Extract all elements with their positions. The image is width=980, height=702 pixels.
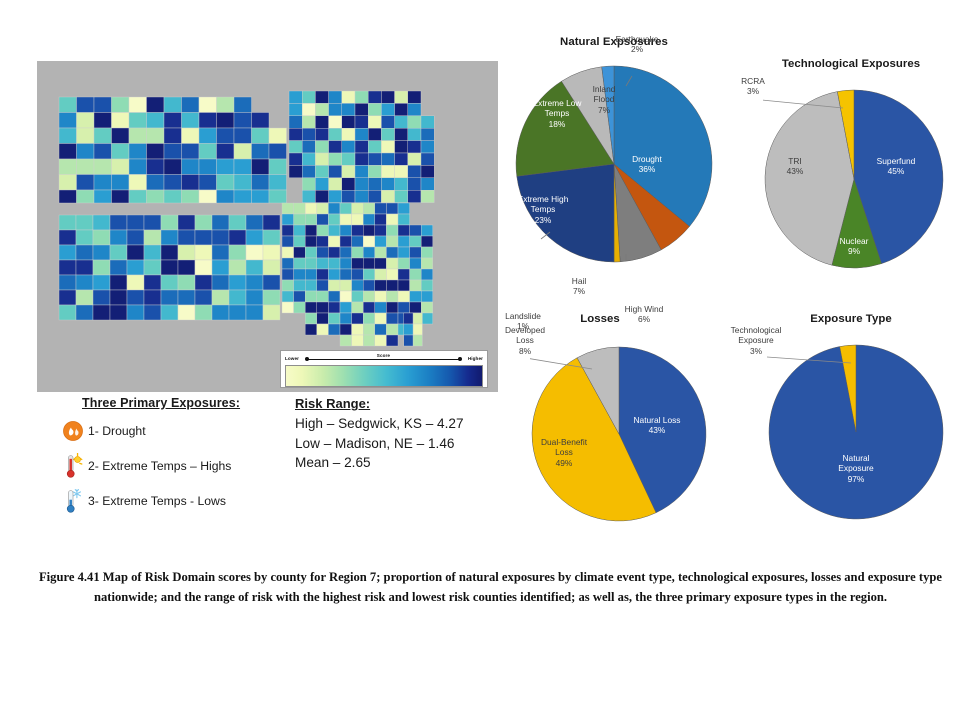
map-county: [340, 258, 352, 269]
figure-caption: Figure 4.41 Map of Risk Domain scores by…: [38, 568, 943, 607]
map-county: [340, 324, 352, 335]
map-county: [94, 159, 112, 175]
map-county: [212, 305, 229, 320]
map-county: [302, 128, 315, 140]
map-county: [352, 280, 364, 291]
map-county: [234, 159, 252, 175]
map-county: [355, 128, 368, 140]
map-county: [342, 141, 355, 153]
map-county: [410, 269, 422, 280]
map-county: [195, 215, 212, 230]
map-county: [212, 260, 229, 275]
map-county: [263, 275, 280, 290]
map-county: [59, 159, 77, 175]
map-county: [305, 236, 317, 247]
map-county: [363, 225, 375, 236]
map-county: [127, 215, 144, 230]
map-county: [375, 225, 387, 236]
map-county: [110, 275, 127, 290]
map-county: [129, 190, 147, 203]
map-county: [263, 215, 280, 230]
map-county: [161, 245, 178, 260]
map-county: [263, 290, 280, 305]
map-county: [408, 165, 421, 177]
map-county: [127, 245, 144, 260]
slice-label-dual-benefit-loss: Dual-BenefitLoss49%: [526, 437, 602, 468]
map-county: [252, 113, 270, 129]
map-county: [161, 290, 178, 305]
map-county: [329, 141, 342, 153]
map-county: [395, 91, 408, 103]
map-county: [340, 313, 352, 324]
map-county: [317, 280, 329, 291]
map-county: [182, 97, 200, 113]
map-county: [317, 247, 329, 258]
map-county: [395, 153, 408, 165]
map-county: [195, 275, 212, 290]
map-county: [408, 178, 421, 190]
map-county: [342, 116, 355, 128]
map-county: [410, 258, 422, 269]
map-county: [328, 225, 340, 236]
map-county: [328, 302, 340, 313]
map-county: [294, 225, 306, 236]
map-county: [352, 335, 364, 346]
map-county: [340, 280, 352, 291]
map-county: [129, 175, 147, 191]
map-county: [375, 280, 387, 291]
map-county: [398, 280, 410, 291]
map-county: [94, 175, 112, 191]
map-county: [195, 245, 212, 260]
map-county: [112, 144, 130, 160]
map-county: [421, 128, 434, 140]
scale-gradient-bar: [285, 365, 483, 387]
map-county: [410, 236, 422, 247]
map-county: [129, 113, 147, 129]
map-county: [381, 116, 394, 128]
map-county: [421, 153, 434, 165]
map-county: [144, 215, 161, 230]
map-county: [352, 291, 364, 302]
map-county: [77, 128, 95, 144]
map-county: [294, 203, 306, 214]
map-county: [59, 190, 77, 203]
map-county: [59, 275, 76, 290]
map-county: [421, 258, 433, 269]
map-county: [329, 153, 342, 165]
map-county: [302, 165, 315, 177]
map-county: [282, 269, 294, 280]
map-county: [127, 275, 144, 290]
map-county: [234, 175, 252, 191]
map-county: [246, 275, 263, 290]
legend-heading: Three Primary Exposures:: [82, 396, 292, 410]
slice-label-nuclear: Nuclear9%: [827, 236, 881, 257]
map-county: [363, 236, 375, 247]
map-county: [375, 258, 387, 269]
map-county: [282, 247, 294, 258]
map-county: [413, 335, 422, 346]
map-county: [305, 302, 317, 313]
map-county: [217, 159, 235, 175]
map-county: [404, 313, 413, 324]
map-county: [76, 290, 93, 305]
map-county: [386, 280, 398, 291]
map-county: [294, 291, 306, 302]
map-county: [381, 178, 394, 190]
map-county: [144, 290, 161, 305]
map-county: [217, 97, 235, 113]
map-county: [386, 225, 398, 236]
map-county: [110, 215, 127, 230]
map-county: [386, 203, 398, 214]
map-county: [381, 190, 394, 202]
map-county: [77, 113, 95, 129]
map-county: [178, 260, 195, 275]
map-county: [355, 116, 368, 128]
map-county: [164, 128, 182, 144]
map-county: [386, 214, 398, 225]
map-county: [112, 97, 130, 113]
map-county: [395, 190, 408, 202]
map-county: [355, 190, 368, 202]
map-county: [246, 305, 263, 320]
map-county: [302, 190, 315, 202]
map-county: [317, 203, 329, 214]
map-county: [352, 203, 364, 214]
map-county: [182, 128, 200, 144]
map-county: [398, 291, 410, 302]
map-county: [182, 159, 200, 175]
map-county: [340, 225, 352, 236]
map-county: [302, 91, 315, 103]
map-county: [328, 203, 340, 214]
map-county: [410, 291, 422, 302]
map-county: [421, 291, 433, 302]
map-county: [93, 245, 110, 260]
map-county: [212, 245, 229, 260]
map-county: [164, 144, 182, 160]
map-county: [398, 214, 410, 225]
map-county: [317, 236, 329, 247]
slice-label-technological-exposure: TechnologicalExposure3%: [717, 325, 795, 356]
map-county: [317, 225, 329, 236]
map-county: [315, 141, 328, 153]
map-county: [408, 116, 421, 128]
map-county: [94, 128, 112, 144]
map-county: [289, 116, 302, 128]
map-county: [315, 103, 328, 115]
map-county: [386, 269, 398, 280]
map-county: [234, 190, 252, 203]
map-county: [77, 97, 95, 113]
map-county: [363, 335, 375, 346]
map-county: [381, 165, 394, 177]
map-county: [328, 236, 340, 247]
map-county: [317, 313, 329, 324]
map-county: [212, 275, 229, 290]
map-county: [282, 214, 294, 225]
map-county: [315, 128, 328, 140]
map-county: [282, 302, 294, 313]
map-county: [76, 260, 93, 275]
map-county: [269, 175, 287, 191]
slice-label-superfund: Superfund45%: [859, 156, 933, 177]
map-county: [182, 190, 200, 203]
map-county: [112, 113, 130, 129]
legend-label-drought: 1- Drought: [88, 424, 146, 438]
map-county: [315, 91, 328, 103]
map-county: [93, 305, 110, 320]
map-county: [127, 260, 144, 275]
map-county: [342, 153, 355, 165]
map-county: [352, 324, 364, 335]
map-county: [229, 305, 246, 320]
map-county: [112, 190, 130, 203]
map-county: [340, 335, 352, 346]
map-county: [77, 144, 95, 160]
map-scale-legend: Lower Score Higher: [280, 350, 488, 388]
map-county: [147, 128, 165, 144]
map-county: [289, 103, 302, 115]
map-county: [229, 245, 246, 260]
map-county: [421, 313, 433, 324]
map-county: [368, 103, 381, 115]
map-county: [263, 305, 280, 320]
map-county: [368, 116, 381, 128]
map-county: [386, 324, 398, 335]
map-county: [302, 178, 315, 190]
map-county: [368, 178, 381, 190]
map-county: [363, 247, 375, 258]
map-county: [252, 128, 270, 144]
map-county: [127, 290, 144, 305]
map-county: [77, 159, 95, 175]
map-county: [217, 175, 235, 191]
map-county: [340, 291, 352, 302]
technological-exposures-title: Technological Exposures: [735, 58, 967, 70]
map-county: [178, 215, 195, 230]
map-county: [421, 225, 433, 236]
map-county: [76, 245, 93, 260]
map-county: [182, 144, 200, 160]
map-county: [110, 290, 127, 305]
map-county: [161, 275, 178, 290]
map-county: [178, 230, 195, 245]
map-county: [421, 302, 433, 313]
map-county: [199, 97, 217, 113]
map-county: [182, 113, 200, 129]
map-county: [178, 275, 195, 290]
map-county: [328, 324, 340, 335]
exposure-type-title: Exposure Type: [735, 313, 967, 325]
map-county: [305, 225, 317, 236]
map-county: [144, 275, 161, 290]
map-county: [329, 103, 342, 115]
map-county: [342, 178, 355, 190]
map-county: [352, 236, 364, 247]
map-county: [76, 275, 93, 290]
exposure-type-pie: [767, 343, 945, 521]
map-county: [282, 236, 294, 247]
map-county: [246, 215, 263, 230]
losses-title: Losses: [484, 313, 716, 325]
map-county: [129, 144, 147, 160]
exposure-type-chart: Exposure Type NaturalExposure97% Technol…: [735, 313, 967, 553]
map-county: [161, 230, 178, 245]
map-county: [164, 175, 182, 191]
map-county: [413, 324, 422, 335]
technological-exposures-chart: Technological Exposures Superfund45% Nuc…: [735, 58, 967, 323]
map-county: [340, 214, 352, 225]
map-county: [363, 280, 375, 291]
drought-icon: [62, 417, 84, 445]
map-county: [410, 247, 422, 258]
map-county: [342, 128, 355, 140]
slice-label-drought: Drought36%: [612, 154, 682, 175]
map-county: [386, 302, 398, 313]
map-county: [127, 230, 144, 245]
map-county: [212, 290, 229, 305]
map-county: [408, 141, 421, 153]
map-county: [329, 178, 342, 190]
map-county: [328, 247, 340, 258]
map-county: [229, 260, 246, 275]
map-county: [144, 245, 161, 260]
map-county: [129, 97, 147, 113]
map-county: [363, 324, 375, 335]
scale-title: Score: [368, 353, 398, 358]
map-county: [112, 175, 130, 191]
map-county: [164, 190, 182, 203]
scale-arrow: Score: [302, 354, 465, 363]
map-county: [408, 153, 421, 165]
map-county: [144, 230, 161, 245]
map-county: [395, 128, 408, 140]
map-county: [263, 260, 280, 275]
map-county: [355, 153, 368, 165]
map-county: [381, 153, 394, 165]
map-county: [212, 215, 229, 230]
risk-domain-map: Lower Score Higher: [37, 61, 498, 392]
county-choropleth-svg: [37, 61, 498, 392]
map-county: [144, 305, 161, 320]
map-county: [127, 305, 144, 320]
map-county: [59, 305, 76, 320]
map-county: [217, 144, 235, 160]
map-county: [234, 144, 252, 160]
slice-label-developed-loss: DevelopedLoss8%: [490, 325, 560, 356]
map-county: [294, 280, 306, 291]
map-county: [352, 302, 364, 313]
map-county: [294, 269, 306, 280]
risk-range-high: High – Sedgwick, KS – 4.27: [295, 414, 515, 434]
map-county: [355, 103, 368, 115]
map-county: [199, 190, 217, 203]
map-county: [178, 290, 195, 305]
map-county: [246, 290, 263, 305]
map-county: [178, 245, 195, 260]
map-county: [217, 128, 235, 144]
map-county: [375, 291, 387, 302]
map-county: [161, 260, 178, 275]
map-county: [195, 290, 212, 305]
map-county: [252, 159, 270, 175]
slice-label-extreme-high-temps: Extreme HighTemps23%: [506, 194, 580, 225]
map-county: [340, 269, 352, 280]
map-county: [352, 225, 364, 236]
map-county: [294, 247, 306, 258]
map-county: [263, 245, 280, 260]
map-county: [94, 144, 112, 160]
map-county: [302, 103, 315, 115]
map-county: [317, 214, 329, 225]
map-county: [317, 269, 329, 280]
map-county: [381, 128, 394, 140]
map-county: [386, 313, 398, 324]
map-county: [147, 97, 165, 113]
map-county: [368, 128, 381, 140]
map-county: [302, 153, 315, 165]
map-county: [375, 214, 387, 225]
map-county: [289, 141, 302, 153]
map-county: [368, 91, 381, 103]
map-county: [381, 141, 394, 153]
map-county: [164, 97, 182, 113]
losses-chart: Losses Natural Loss43% Dual-BenefitLoss4…: [498, 313, 730, 553]
map-county: [421, 178, 434, 190]
slice-label-natural-loss: Natural Loss43%: [618, 415, 696, 436]
slice-label-earthquake: Earthquake2%: [606, 34, 668, 55]
map-county: [328, 313, 340, 324]
risk-range-low: Low – Madison, NE – 1.46: [295, 434, 515, 454]
map-county: [421, 269, 433, 280]
map-county: [398, 225, 410, 236]
map-county: [59, 215, 76, 230]
map-county: [112, 159, 130, 175]
map-county: [59, 230, 76, 245]
map-county: [294, 258, 306, 269]
map-county: [199, 175, 217, 191]
map-county: [94, 97, 112, 113]
map-county: [410, 280, 422, 291]
legend-item-drought: 1- Drought: [62, 414, 292, 448]
map-county: [340, 302, 352, 313]
map-county: [269, 144, 287, 160]
map-county: [164, 159, 182, 175]
map-county: [395, 116, 408, 128]
map-county: [395, 165, 408, 177]
map-county: [212, 230, 229, 245]
map-county: [375, 302, 387, 313]
natural-exposures-chart: Natural Expsosures Drought36% InlandFloo…: [498, 36, 730, 326]
map-county: [375, 247, 387, 258]
map-county: [59, 144, 77, 160]
map-county: [386, 258, 398, 269]
map-county: [317, 324, 329, 335]
map-county: [329, 116, 342, 128]
map-county: [147, 159, 165, 175]
map-county: [421, 247, 433, 258]
map-county: [408, 91, 421, 103]
map-county: [269, 159, 287, 175]
map-county: [329, 128, 342, 140]
map-county: [94, 190, 112, 203]
legend-label-extreme-high-temps: 2- Extreme Temps – Highs: [88, 459, 231, 473]
map-county: [363, 302, 375, 313]
map-county: [59, 128, 77, 144]
